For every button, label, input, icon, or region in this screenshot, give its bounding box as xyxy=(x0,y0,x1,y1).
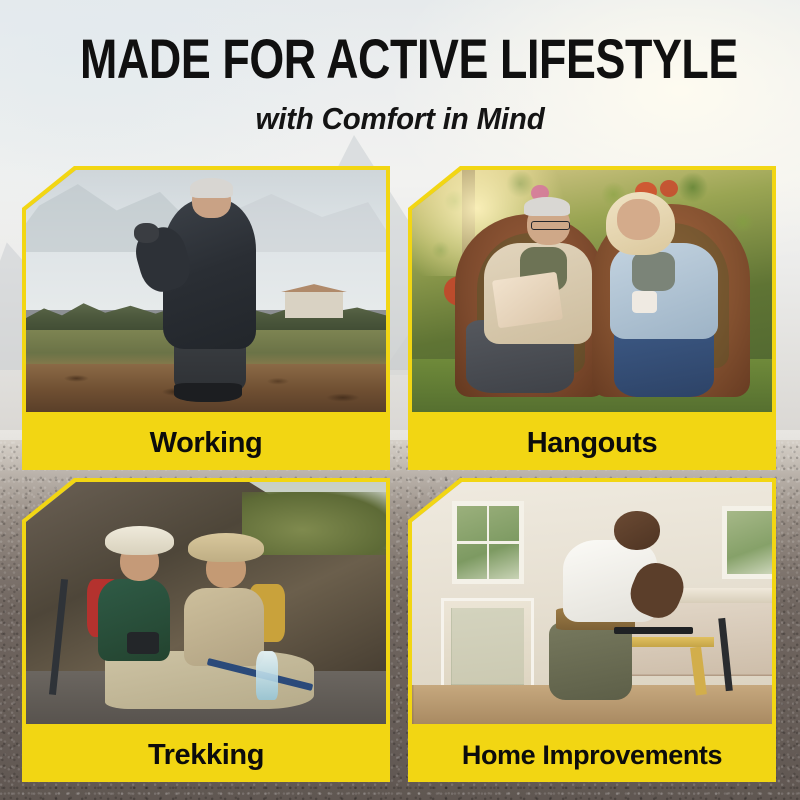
category-label-bar: Working xyxy=(22,416,390,470)
headline-block: MADE FOR ACTIVE LIFESTYLE with Comfort i… xyxy=(0,0,800,136)
category-card-hangouts[interactable]: Hangouts xyxy=(408,166,776,470)
category-label-text: Hangouts xyxy=(527,428,658,458)
photo-trekking xyxy=(26,482,386,724)
category-card-working[interactable]: Working xyxy=(22,166,390,470)
page-subtitle: with Comfort in Mind xyxy=(20,102,780,136)
category-label-text: Working xyxy=(150,428,263,458)
photo-frame xyxy=(408,478,776,728)
photo-frame xyxy=(22,478,390,728)
photo-frame xyxy=(22,166,390,416)
photo-working xyxy=(26,170,386,412)
category-label-bar: Home Improvements xyxy=(408,728,776,782)
photo-hangouts xyxy=(412,170,772,412)
category-label-text: Trekking xyxy=(148,740,264,770)
category-label-bar: Trekking xyxy=(22,728,390,782)
poster-canvas: MADE FOR ACTIVE LIFESTYLE with Comfort i… xyxy=(0,0,800,800)
category-label-text: Home Improvements xyxy=(462,740,722,770)
page-title: MADE FOR ACTIVE LIFESTYLE xyxy=(80,30,720,88)
category-card-trekking[interactable]: Trekking xyxy=(22,478,390,782)
photo-frame xyxy=(408,166,776,416)
category-label-bar: Hangouts xyxy=(408,416,776,470)
photo-home-improvements xyxy=(412,482,772,724)
category-card-home-improvements[interactable]: Home Improvements xyxy=(408,478,776,782)
